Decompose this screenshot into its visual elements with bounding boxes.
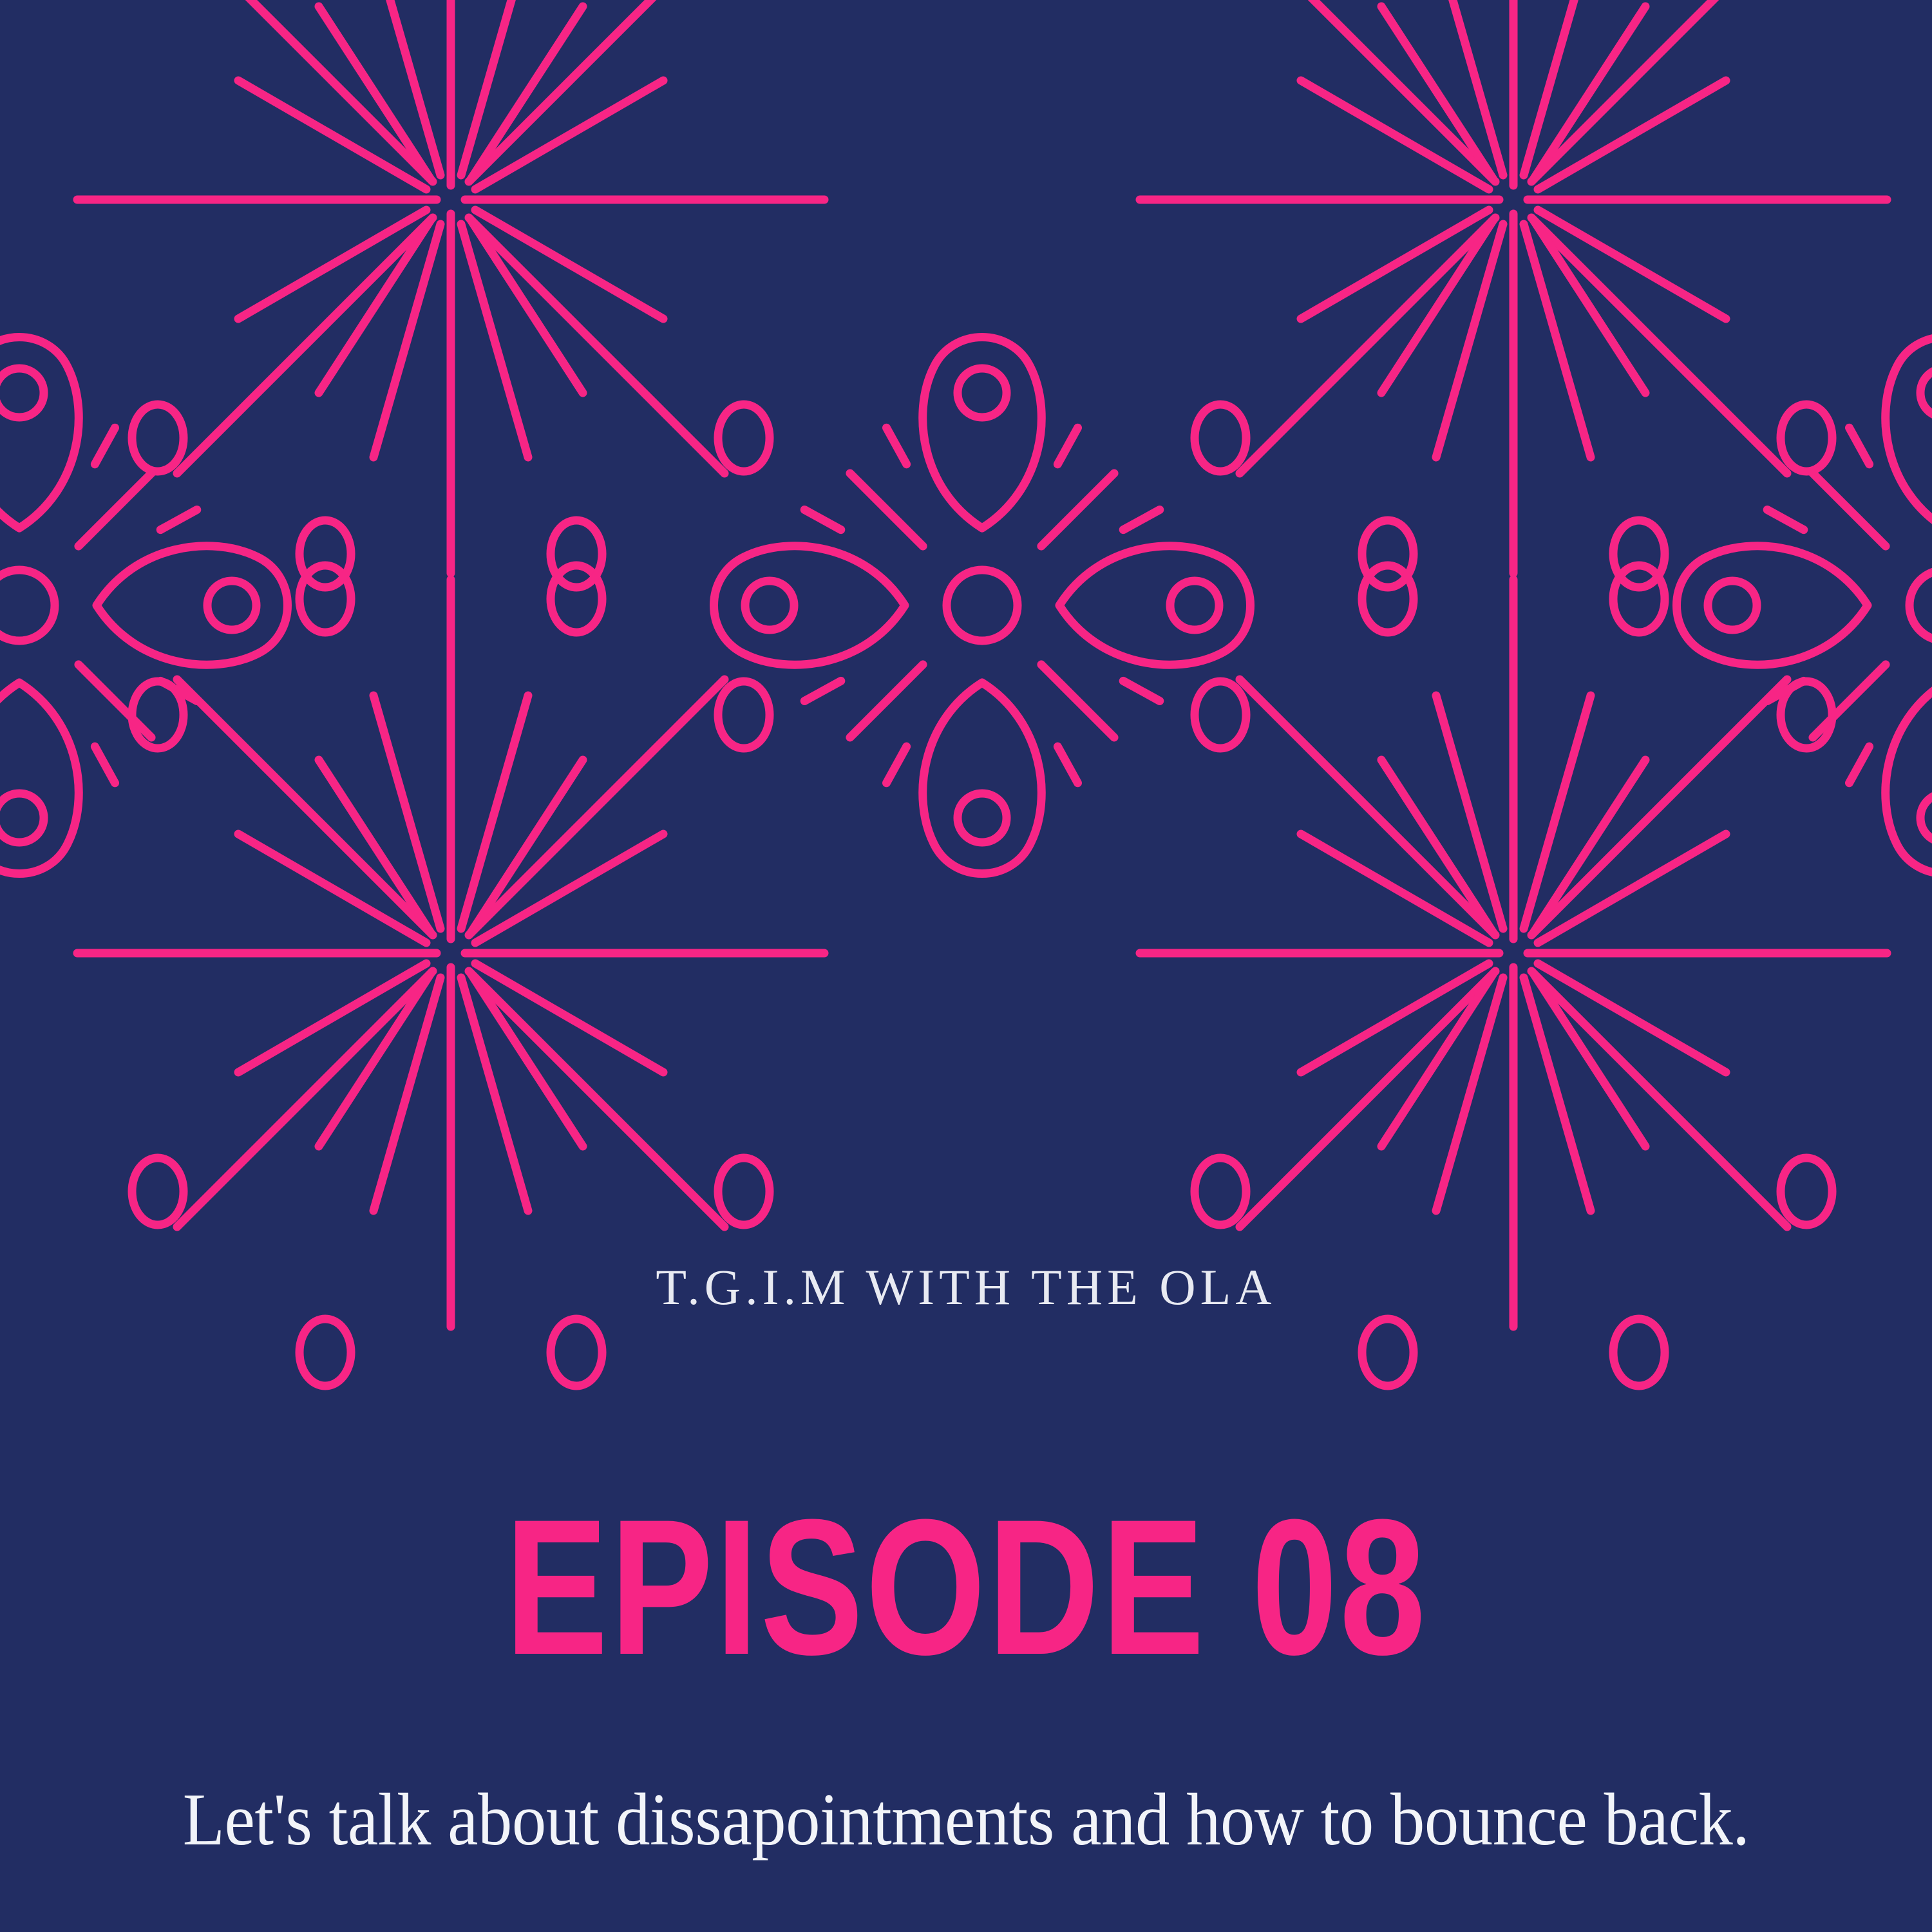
episode-title: EPISODE 08	[505, 1506, 1428, 1668]
episode-subtitle: Let's talk about dissapointments and how…	[183, 1783, 1750, 1857]
flower-motif-icon-center	[714, 337, 1251, 874]
show-name: T.G.I.M WITH THE OLA	[656, 1262, 1276, 1312]
flower-motif-icon-left-edge	[0, 337, 288, 874]
flower-motif-icon-right-edge	[1677, 337, 1932, 874]
starburst-icon-top-right	[1140, 0, 1887, 632]
podcast-cover-canvas: T.G.I.M WITH THE OLA EPISODE 08 Let's ta…	[0, 0, 1932, 1932]
starburst-icon-top-left	[77, 0, 824, 632]
cover-text-block: T.G.I.M WITH THE OLA EPISODE 08 Let's ta…	[0, 1224, 1932, 1932]
